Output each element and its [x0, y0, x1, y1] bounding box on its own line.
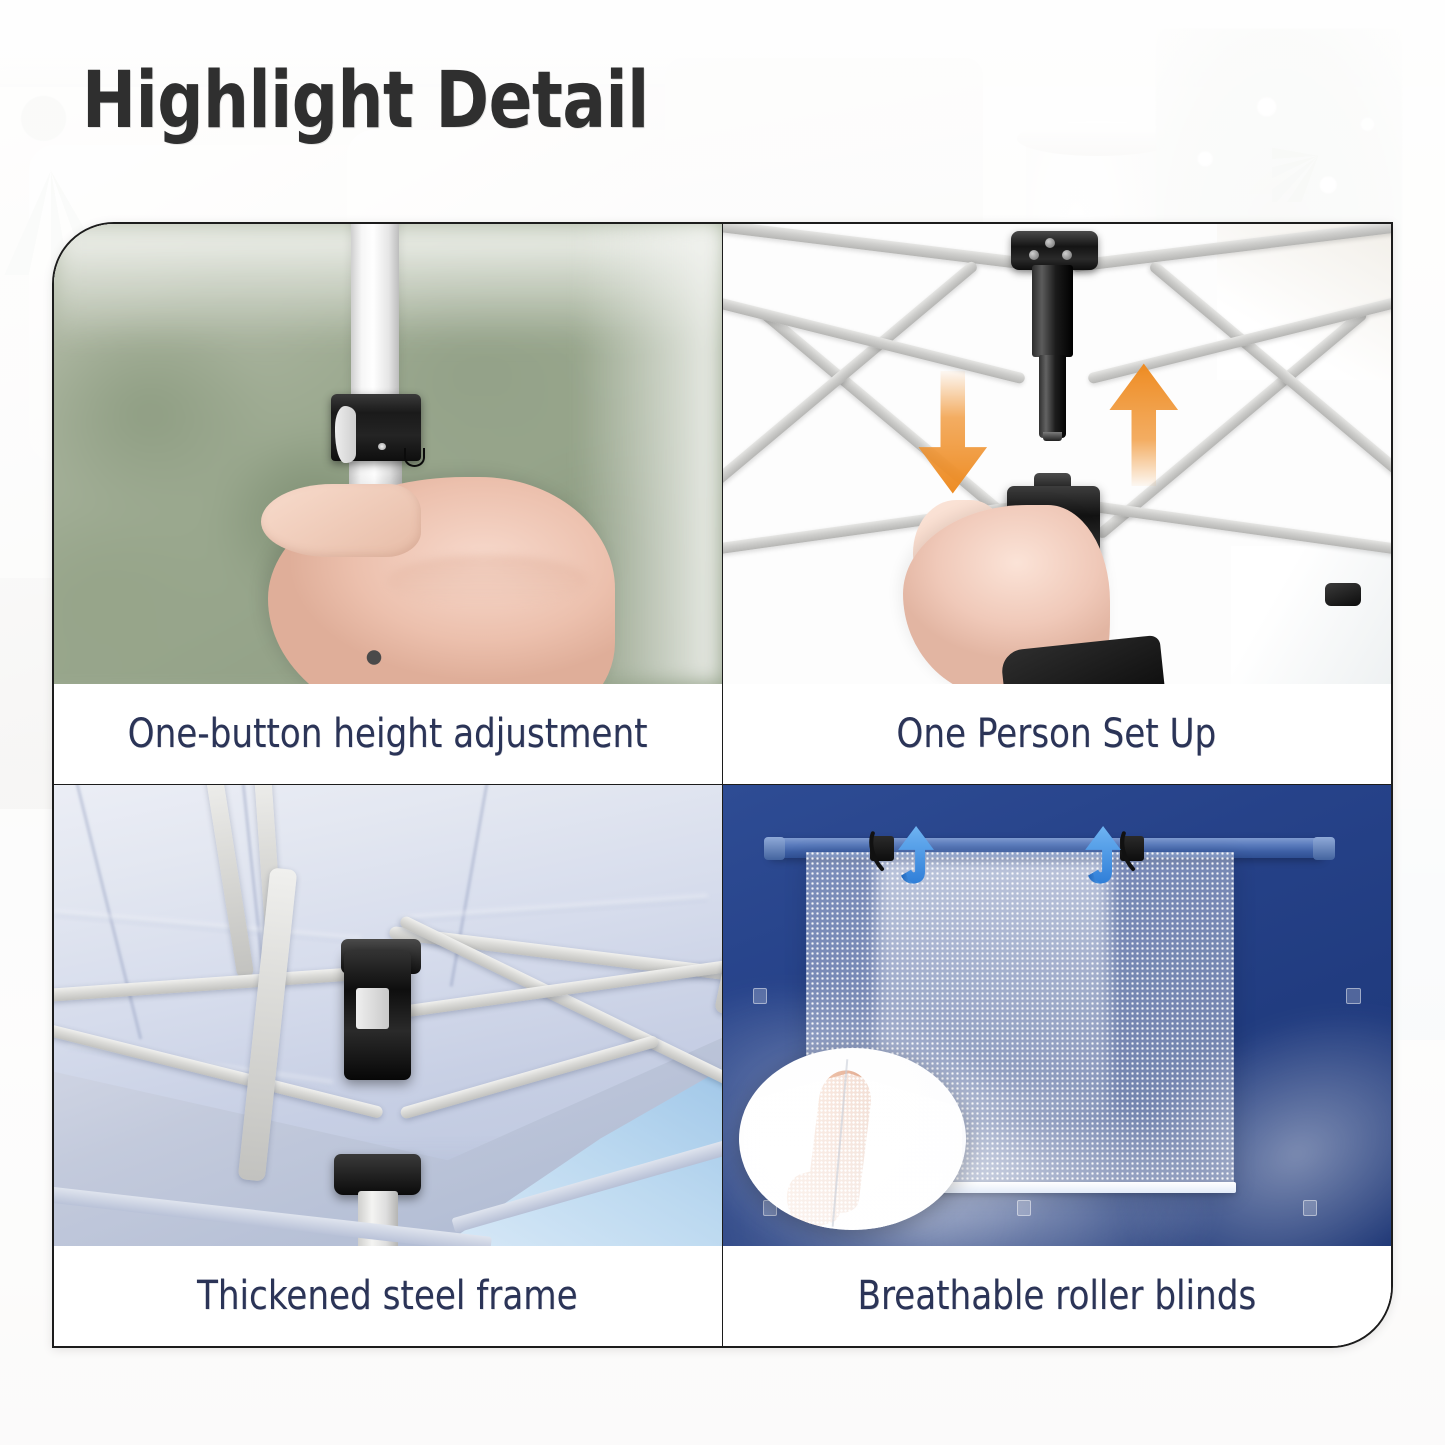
telescoping-pole-upper: [1032, 265, 1073, 357]
feature-grid: One-button height adjustment: [52, 222, 1393, 1348]
panel-caption: Thickened steel frame: [54, 1246, 722, 1346]
upper-hub: [1011, 231, 1098, 270]
panel-height-adjustment[interactable]: One-button height adjustment: [54, 224, 723, 785]
panel-one-person-setup-photo: [723, 224, 1392, 684]
frame-corner-joint: [1325, 583, 1361, 606]
panel-one-person-setup[interactable]: One Person Set Up: [723, 224, 1392, 785]
panel-caption-text: One-button height adjustment: [128, 711, 648, 757]
inset-mesh-fabric: [744, 1073, 962, 1230]
sidewall-clip-right: [1346, 988, 1361, 1004]
thumb: [261, 484, 421, 558]
up-arrow-icon: [1107, 362, 1181, 486]
panel-caption-text: Breathable roller blinds: [857, 1273, 1256, 1319]
push-button-slot-icon: [404, 448, 425, 467]
telescoping-pole-tip: [1043, 432, 1062, 441]
mesh-closeup-inset: [739, 1048, 966, 1230]
blind-rail-cap-right: [1313, 837, 1334, 860]
sidewall-clip-left: [753, 988, 768, 1004]
center-post-collar: [334, 1154, 421, 1195]
panel-height-adjustment-photo: [54, 224, 722, 684]
roll-up-arrow-right-icon: [1073, 824, 1133, 889]
pole-upper-section: [351, 224, 399, 408]
page-title: Highlight Detail: [82, 56, 649, 146]
panel-caption: Breathable roller blinds: [723, 1246, 1392, 1346]
blind-rail-cap-left: [764, 837, 785, 860]
setup-background-bottom-right: [1231, 546, 1391, 684]
sidewall-clip-bottom-mid: [1017, 1200, 1032, 1216]
release-lever-icon: [335, 406, 356, 464]
collar-rivet-icon: [378, 443, 385, 450]
panel-roller-blinds[interactable]: Breathable roller blinds: [723, 785, 1392, 1346]
roll-up-arrow-left-icon: [886, 824, 946, 889]
panel-caption: One Person Set Up: [723, 684, 1392, 784]
panel-steel-frame-photo: [54, 785, 722, 1246]
telescoping-pole-lower: [1039, 355, 1066, 438]
hub-slider: [356, 988, 389, 1029]
sidewall-clip-bottom-right: [1303, 1200, 1318, 1216]
panel-caption-text: One Person Set Up: [897, 711, 1217, 757]
panel-steel-frame[interactable]: Thickened steel frame: [54, 785, 723, 1346]
panel-caption: One-button height adjustment: [54, 684, 722, 784]
panel-roller-blinds-photo: [723, 785, 1392, 1246]
product-highlight-image: Highlight Detail One-button height a: [0, 0, 1445, 1445]
knuckle-shading: [388, 555, 588, 606]
panel-caption-text: Thickened steel frame: [197, 1273, 578, 1319]
down-arrow-icon: [916, 371, 990, 495]
